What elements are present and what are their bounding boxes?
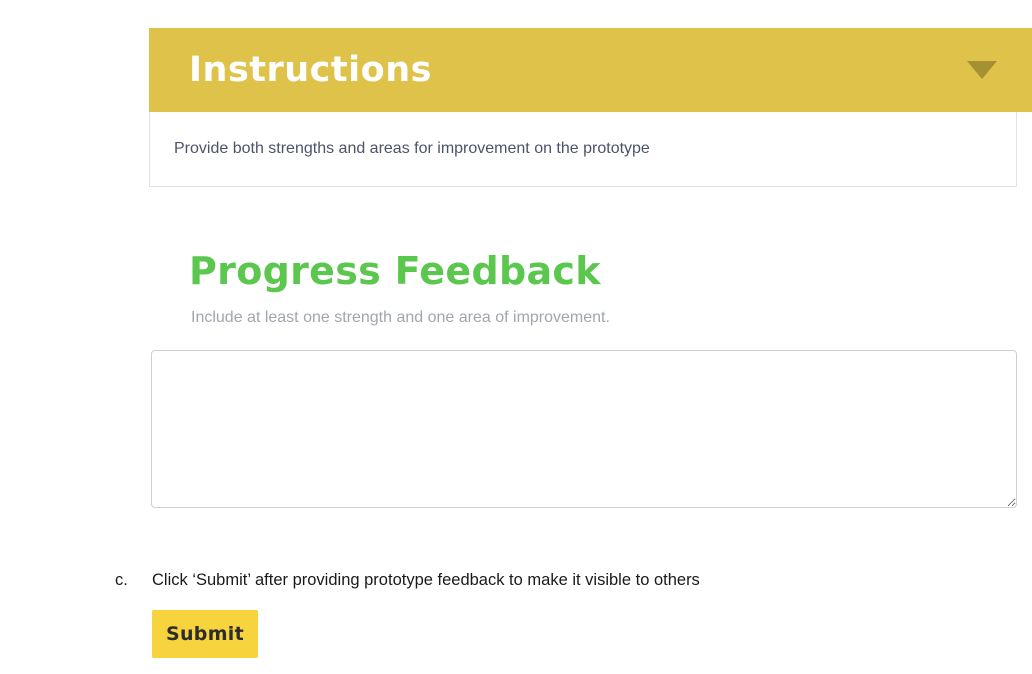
progress-feedback-section: Progress Feedback Include at least one s…: [151, 250, 1017, 508]
step-list-marker: c.: [115, 570, 152, 591]
progress-feedback-subtext: Include at least one strength and one ar…: [191, 308, 1017, 329]
step-list-item: c. Click ‘Submit’ after providing protot…: [115, 570, 700, 591]
instructions-panel: Instructions Provide both strengths and …: [149, 28, 1032, 187]
chevron-down-icon: [967, 61, 997, 79]
step-list-text: Click ‘Submit’ after providing prototype…: [152, 570, 700, 591]
progress-feedback-heading: Progress Feedback: [189, 250, 1017, 294]
instructions-panel-header[interactable]: Instructions: [149, 28, 1032, 112]
collapse-toggle-button[interactable]: [946, 61, 1018, 79]
instructions-panel-body: Provide both strengths and areas for imp…: [149, 112, 1017, 187]
feedback-textarea[interactable]: [151, 350, 1017, 508]
instructions-body-text: Provide both strengths and areas for imp…: [174, 138, 650, 160]
instructions-title: Instructions: [189, 53, 432, 88]
submit-button[interactable]: Submit: [152, 610, 258, 658]
